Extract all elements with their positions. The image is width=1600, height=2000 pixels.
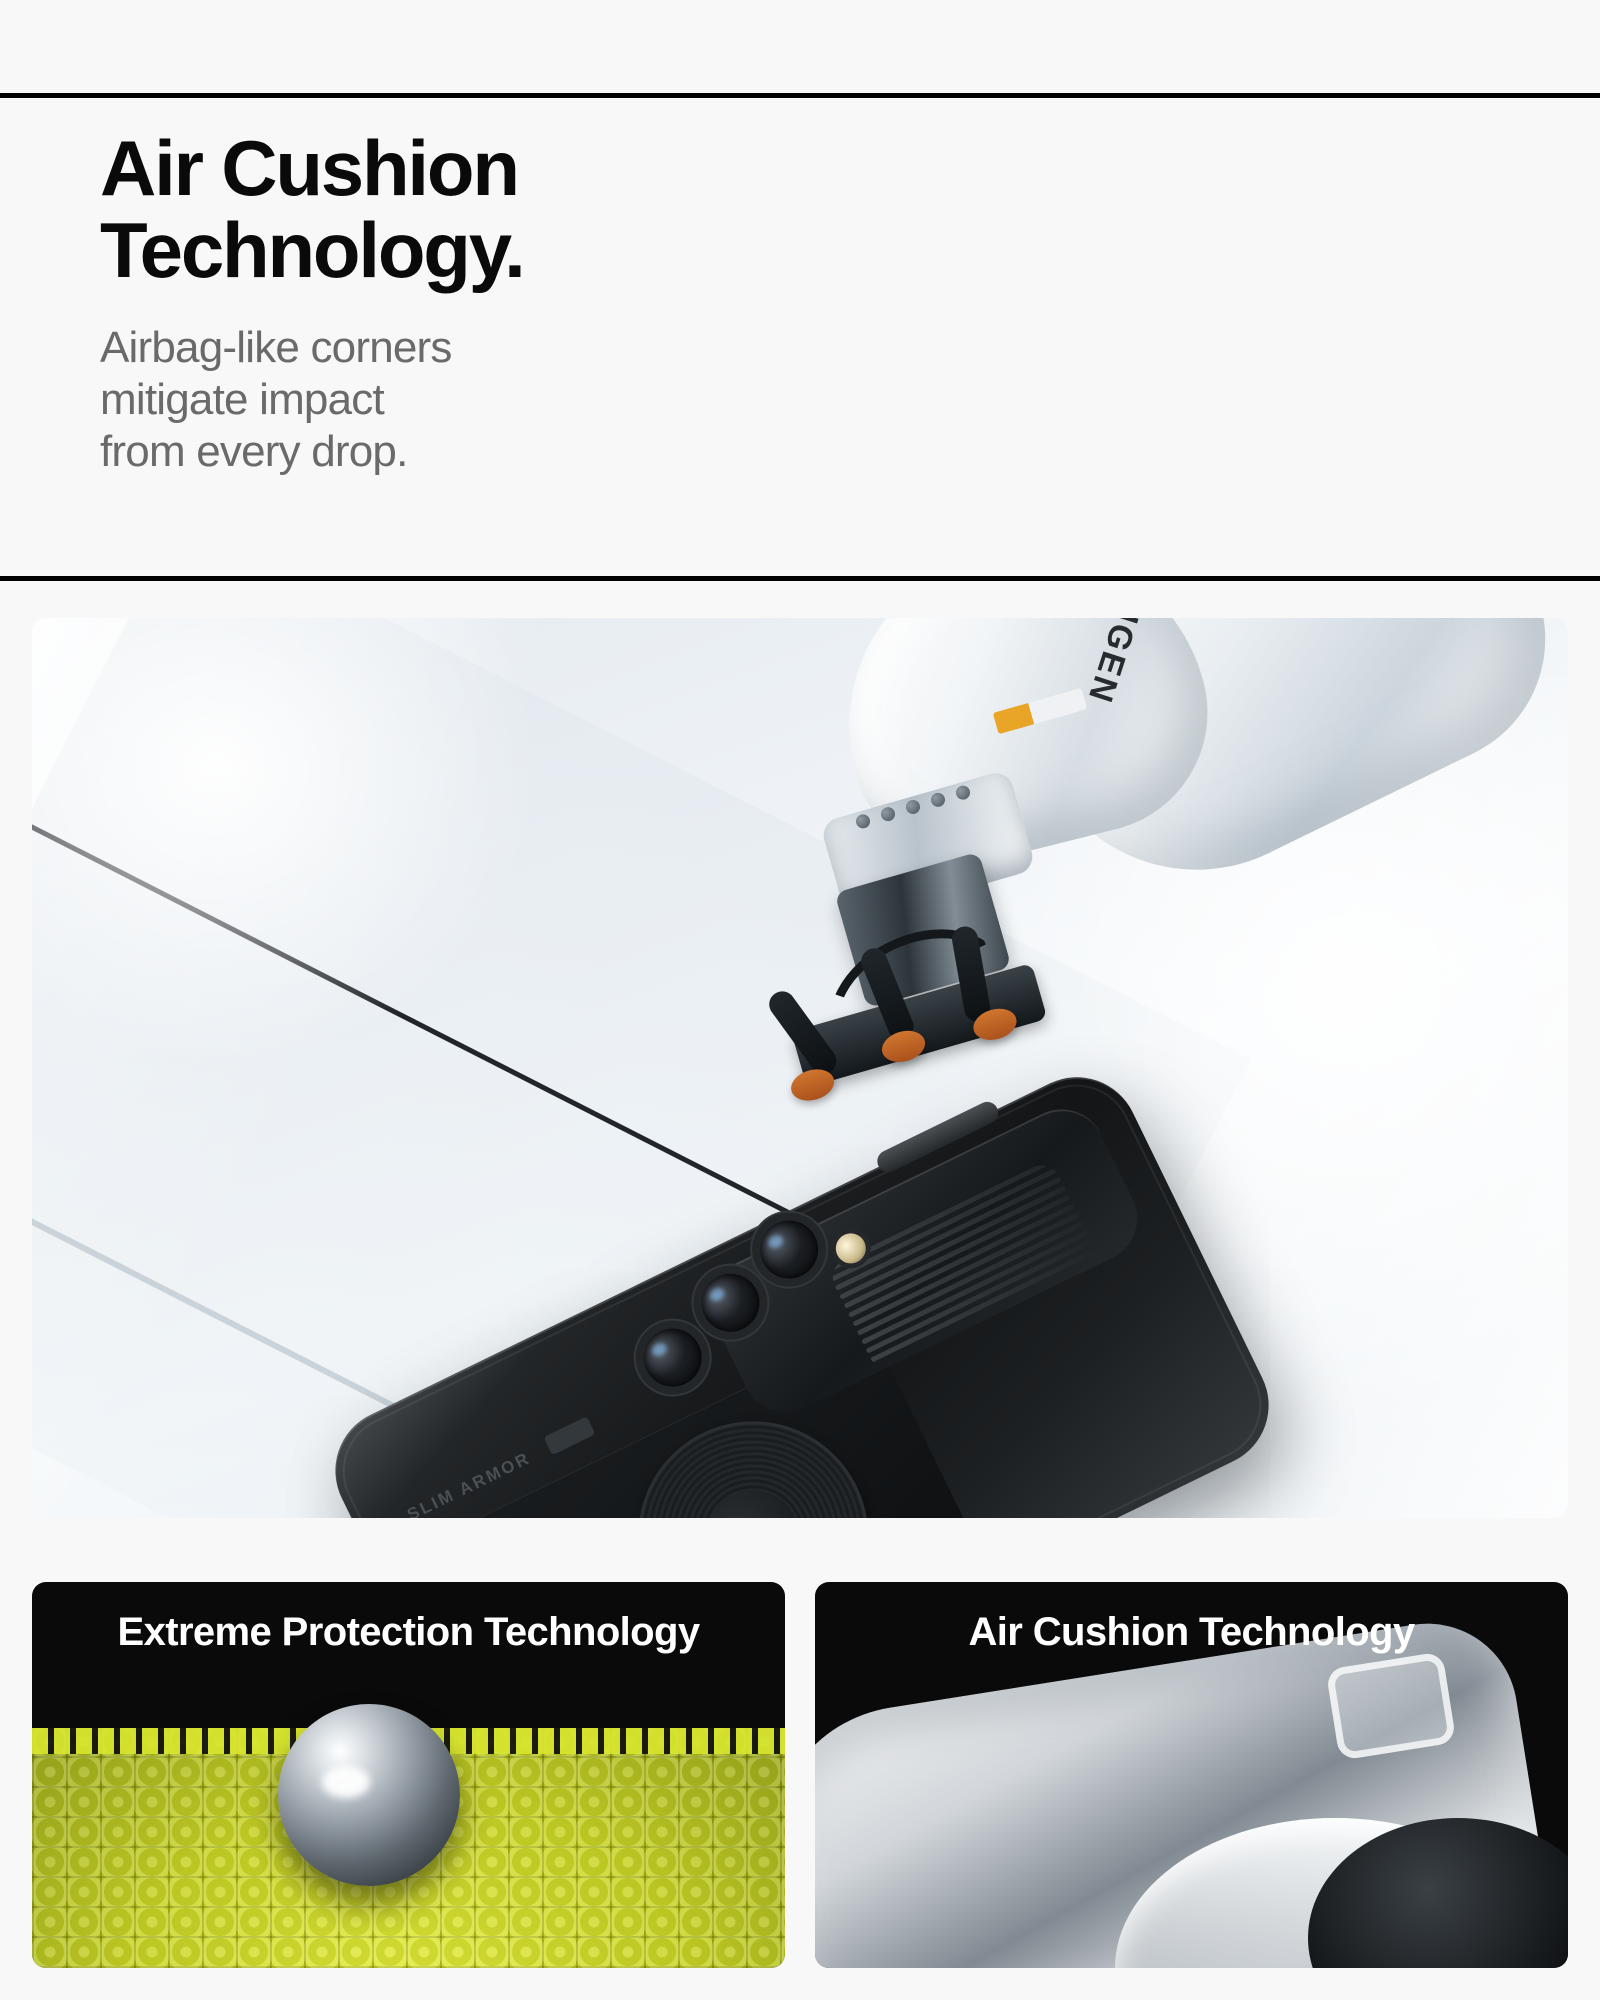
page-subtitle: Airbag-like corners mitigate impact from… — [100, 322, 1000, 478]
steel-ball — [278, 1704, 460, 1886]
hero-image: SPIGEN SLIM ARMOR — [32, 618, 1568, 1518]
header-text-block: Air Cushion Technology. Airbag-like corn… — [100, 128, 1000, 478]
divider-top — [0, 93, 1600, 98]
subhead-line-1: Airbag-like corners — [100, 322, 1000, 374]
product-feature-page: Air Cushion Technology. Airbag-like corn… — [0, 0, 1600, 2000]
divider-middle — [0, 576, 1600, 581]
card-air-cushion[interactable]: Air Cushion Technology — [815, 1582, 1568, 1968]
card-title: Extreme Protection Technology — [32, 1610, 785, 1655]
card-extreme-protection[interactable]: Extreme Protection Technology — [32, 1582, 785, 1968]
headline-line-1: Air Cushion — [100, 128, 1000, 210]
spigen-s-logo-icon: S — [730, 1514, 775, 1518]
magnetic-ring-arc — [668, 1452, 837, 1518]
hero-glow-left — [32, 618, 552, 1078]
headline-line-2: Technology. — [100, 210, 1000, 292]
subhead-line-2: mitigate impact — [100, 374, 1000, 426]
subhead-line-3: from every drop. — [100, 426, 1000, 478]
feature-cards: Extreme Protection Technology Air Cushio… — [32, 1582, 1568, 1968]
case-button-cutout — [1326, 1651, 1457, 1760]
page-title: Air Cushion Technology. — [100, 128, 1000, 292]
card-title: Air Cushion Technology — [815, 1610, 1568, 1655]
